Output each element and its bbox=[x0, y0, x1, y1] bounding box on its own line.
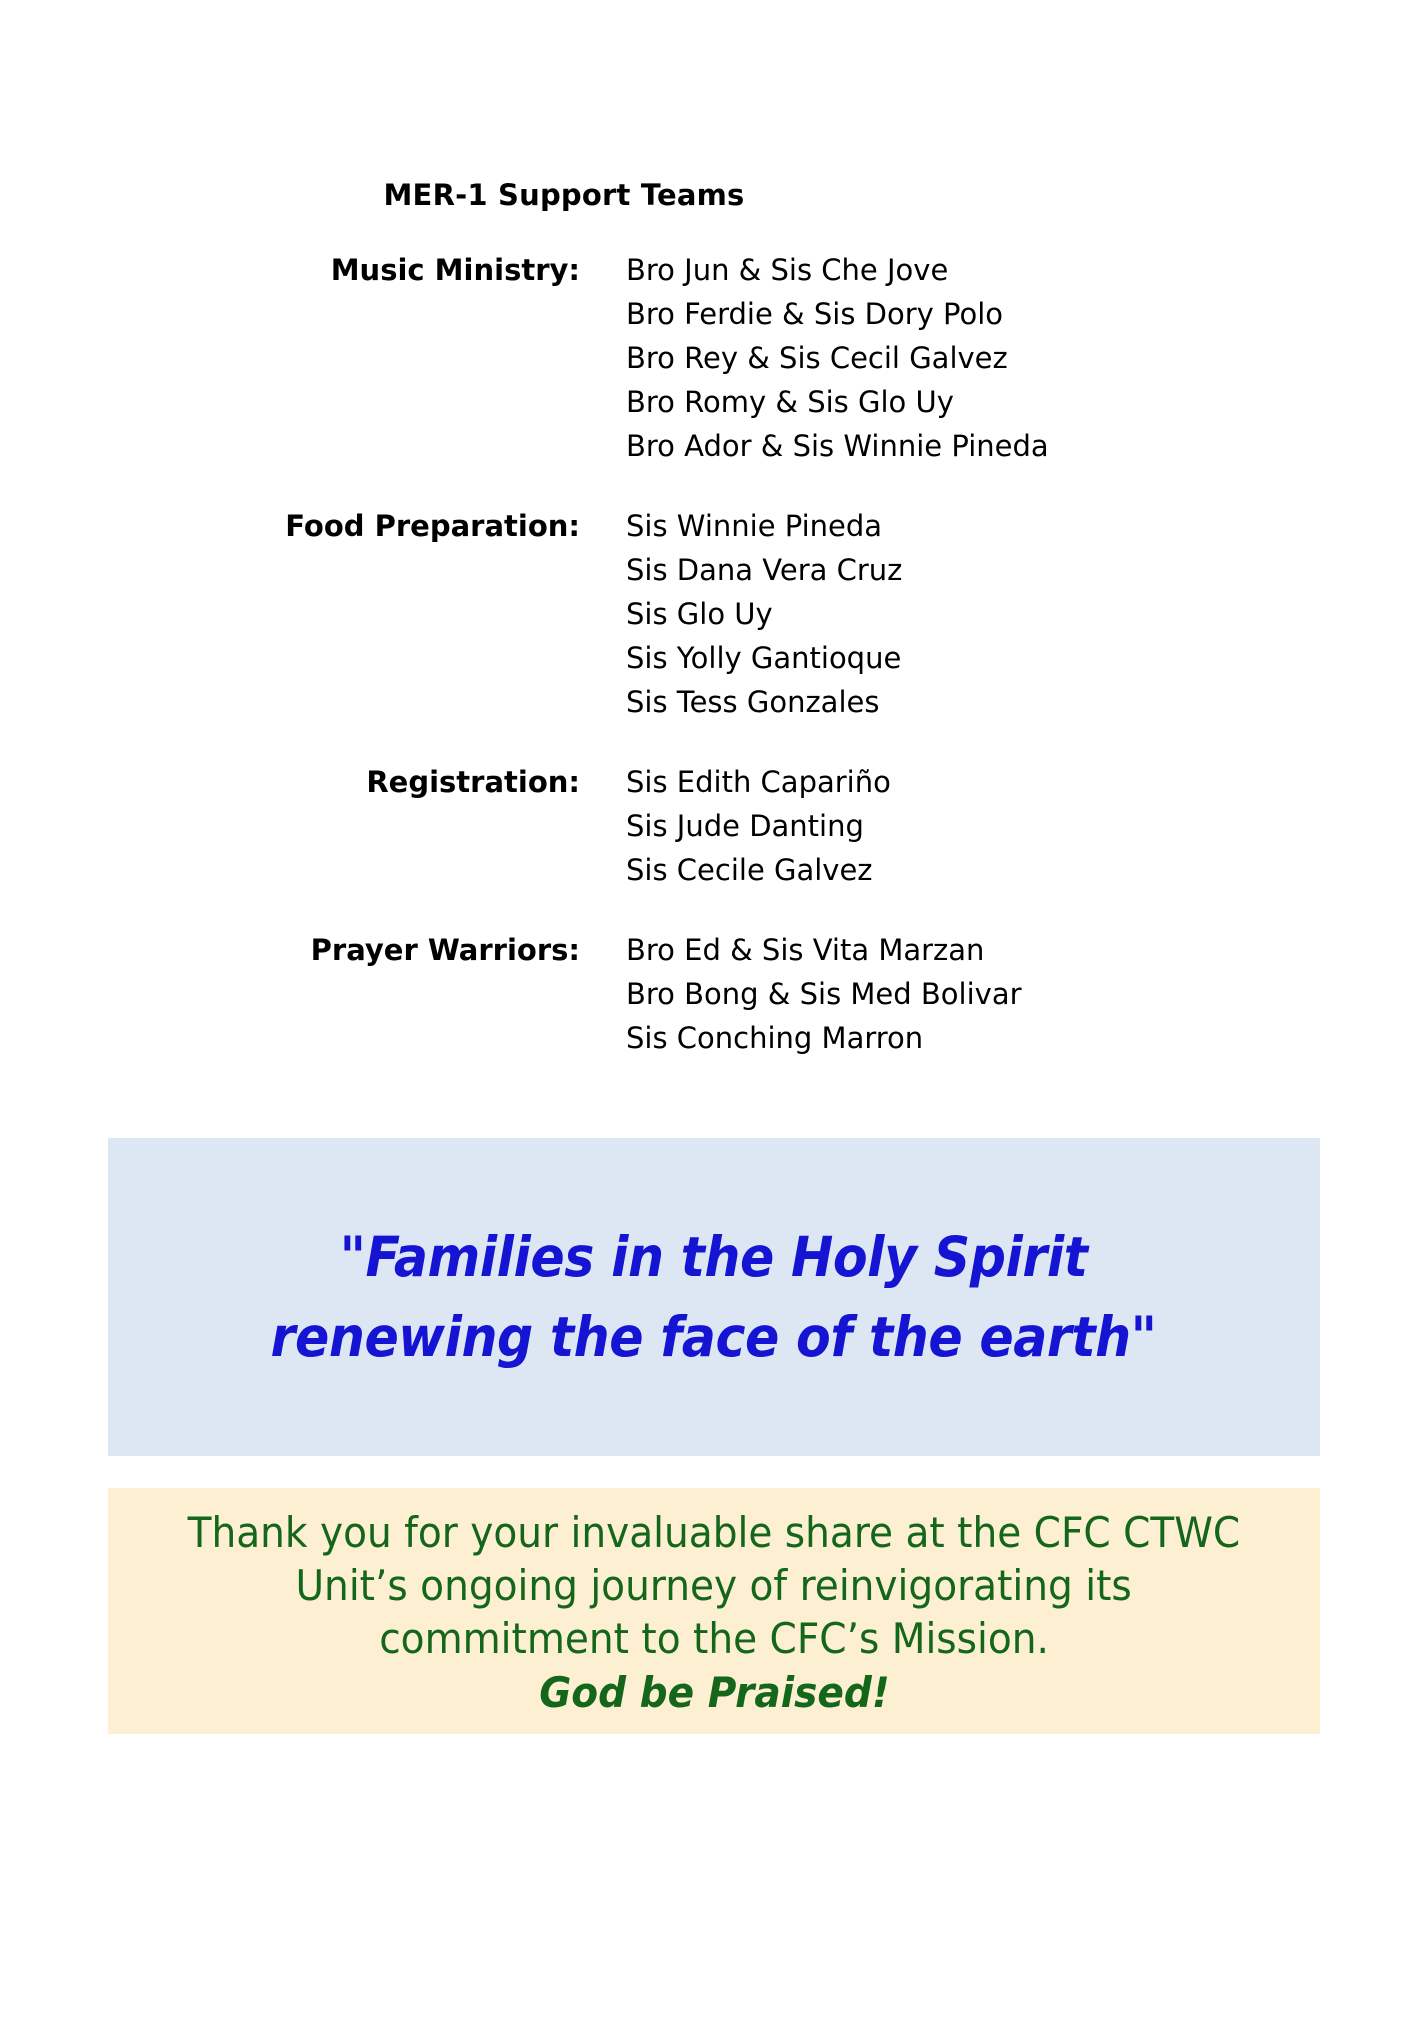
list-item: Sis Edith Capariño bbox=[626, 760, 1428, 804]
document-page: MER-1 Support Teams Music Ministry: Bro … bbox=[0, 0, 1428, 2028]
team-label-food-preparation: Food Preparation: bbox=[0, 504, 580, 548]
list-item: Sis Dana Vera Cruz bbox=[626, 548, 1428, 592]
list-item: Bro Ador & Sis Winnie Pineda bbox=[626, 424, 1428, 468]
list-item: Bro Jun & Sis Che Jove bbox=[626, 248, 1428, 292]
thank-you-banner: Thank you for your invaluable share at t… bbox=[108, 1488, 1320, 1734]
list-item: Bro Ed & Sis Vita Marzan bbox=[626, 928, 1428, 972]
list-item: Sis Yolly Gantioque bbox=[626, 636, 1428, 680]
team-label-music-ministry: Music Ministry: bbox=[0, 248, 580, 292]
team-row: Prayer Warriors: Bro Ed & Sis Vita Marza… bbox=[0, 928, 1428, 1060]
team-row: Food Preparation: Sis Winnie Pineda Sis … bbox=[0, 504, 1428, 724]
team-members-food-preparation: Sis Winnie Pineda Sis Dana Vera Cruz Sis… bbox=[580, 504, 1428, 724]
list-item: Sis Conching Marron bbox=[626, 1016, 1428, 1060]
team-row: Music Ministry: Bro Jun & Sis Che Jove B… bbox=[0, 248, 1428, 468]
list-item: Sis Glo Uy bbox=[626, 592, 1428, 636]
list-item: Sis Tess Gonzales bbox=[626, 680, 1428, 724]
thank-you-line-3: commitment to the CFC’s Mission. bbox=[379, 1612, 1049, 1665]
thank-you-line-1: Thank you for your invaluable share at t… bbox=[188, 1506, 1241, 1559]
tagline-line-2: renewing the face of the earth" bbox=[271, 1297, 1157, 1377]
team-label-registration: Registration: bbox=[0, 760, 580, 804]
list-item: Sis Cecile Galvez bbox=[626, 848, 1428, 892]
list-item: Bro Romy & Sis Glo Uy bbox=[626, 380, 1428, 424]
team-label-prayer-warriors: Prayer Warriors: bbox=[0, 928, 580, 972]
team-members-prayer-warriors: Bro Ed & Sis Vita Marzan Bro Bong & Sis … bbox=[580, 928, 1428, 1060]
team-members-music-ministry: Bro Jun & Sis Che Jove Bro Ferdie & Sis … bbox=[580, 248, 1428, 468]
team-row: Registration: Sis Edith Capariño Sis Jud… bbox=[0, 760, 1428, 892]
list-item: Sis Winnie Pineda bbox=[626, 504, 1428, 548]
team-members-registration: Sis Edith Capariño Sis Jude Danting Sis … bbox=[580, 760, 1428, 892]
list-item: Bro Ferdie & Sis Dory Polo bbox=[626, 292, 1428, 336]
list-item: Bro Bong & Sis Med Bolivar bbox=[626, 972, 1428, 1016]
support-teams-section: MER-1 Support Teams Music Ministry: Bro … bbox=[0, 178, 1428, 1060]
tagline-text: "Families in the Holy Spirit renewing th… bbox=[271, 1217, 1157, 1377]
list-item: Sis Jude Danting bbox=[626, 804, 1428, 848]
tagline-banner: "Families in the Holy Spirit renewing th… bbox=[108, 1138, 1320, 1456]
tagline-line-1: "Families in the Holy Spirit bbox=[271, 1217, 1157, 1297]
thank-you-line-2: Unit’s ongoing journey of reinvigorating… bbox=[296, 1559, 1132, 1612]
god-be-praised-text: God be Praised! bbox=[539, 1665, 889, 1721]
page-title: MER-1 Support Teams bbox=[0, 178, 1428, 212]
list-item: Bro Rey & Sis Cecil Galvez bbox=[626, 336, 1428, 380]
